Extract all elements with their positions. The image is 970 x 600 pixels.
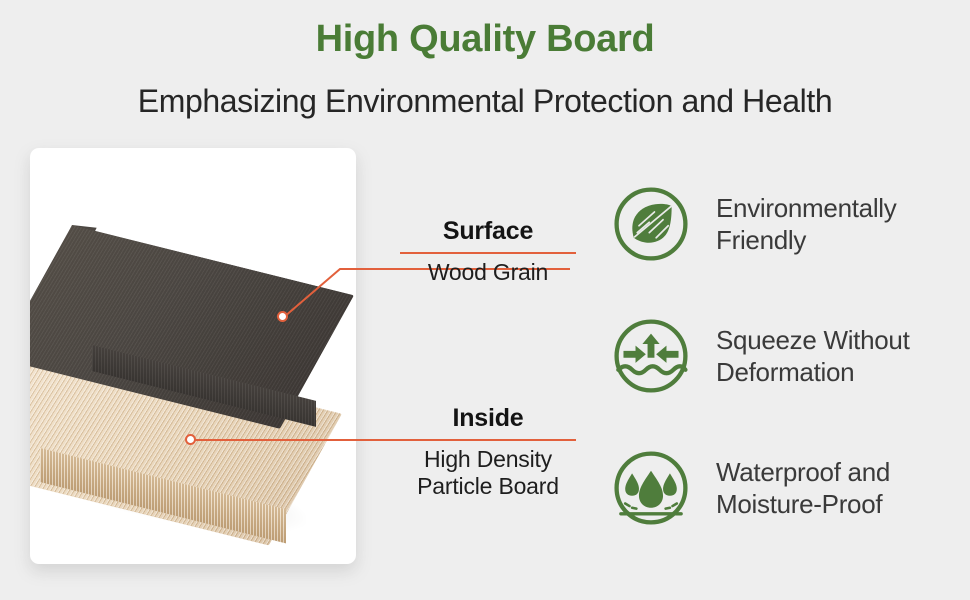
- inside-callout-title: Inside: [400, 405, 576, 433]
- feature-line-1: Environmentally: [716, 192, 896, 224]
- water-droplets-icon: [608, 445, 694, 531]
- inside-callout-dot: [185, 434, 196, 445]
- feature-label-waterproof-moisture-proof: Waterproof and Moisture-Proof: [716, 456, 890, 520]
- surface-callout-dot: [277, 311, 288, 322]
- inside-callout-description-line2: Particle Board: [400, 473, 576, 501]
- feature-environmentally-friendly: Environmentally Friendly: [608, 158, 968, 290]
- surface-callout-title: Surface: [400, 218, 576, 246]
- feature-squeeze-without-deformation: Squeeze Without Deformation: [608, 290, 968, 422]
- feature-waterproof-moisture-proof: Waterproof and Moisture-Proof: [608, 422, 968, 554]
- surface-callout-description: Wood Grain: [400, 259, 576, 287]
- surface-callout-rule: [400, 252, 576, 254]
- inside-callout-description-line1: High Density: [400, 446, 576, 474]
- infographic-root: High Quality Board Emphasizing Environme…: [0, 0, 970, 600]
- feature-label-environmentally-friendly: Environmentally Friendly: [716, 192, 896, 256]
- product-photo-card: [30, 148, 356, 564]
- feature-line-2: Moisture-Proof: [716, 488, 890, 520]
- page-subtitle: Emphasizing Environmental Protection and…: [0, 83, 970, 120]
- compression-arrows-icon: [608, 313, 694, 399]
- feature-list: Environmentally Friendly Squeeze Without…: [608, 158, 968, 554]
- inside-callout: Inside High Density Particle Board: [400, 405, 576, 501]
- feature-line-1: Squeeze Without: [716, 324, 910, 356]
- page-title: High Quality Board: [0, 18, 970, 61]
- feature-line-2: Friendly: [716, 224, 896, 256]
- feature-line-1: Waterproof and: [716, 456, 890, 488]
- surface-callout: Surface Wood Grain: [400, 218, 576, 286]
- feature-label-squeeze-without-deformation: Squeeze Without Deformation: [716, 324, 910, 388]
- product-photo: [30, 148, 356, 564]
- leaf-icon: [608, 181, 694, 267]
- feature-line-2: Deformation: [716, 356, 910, 388]
- inside-callout-rule: [400, 439, 576, 441]
